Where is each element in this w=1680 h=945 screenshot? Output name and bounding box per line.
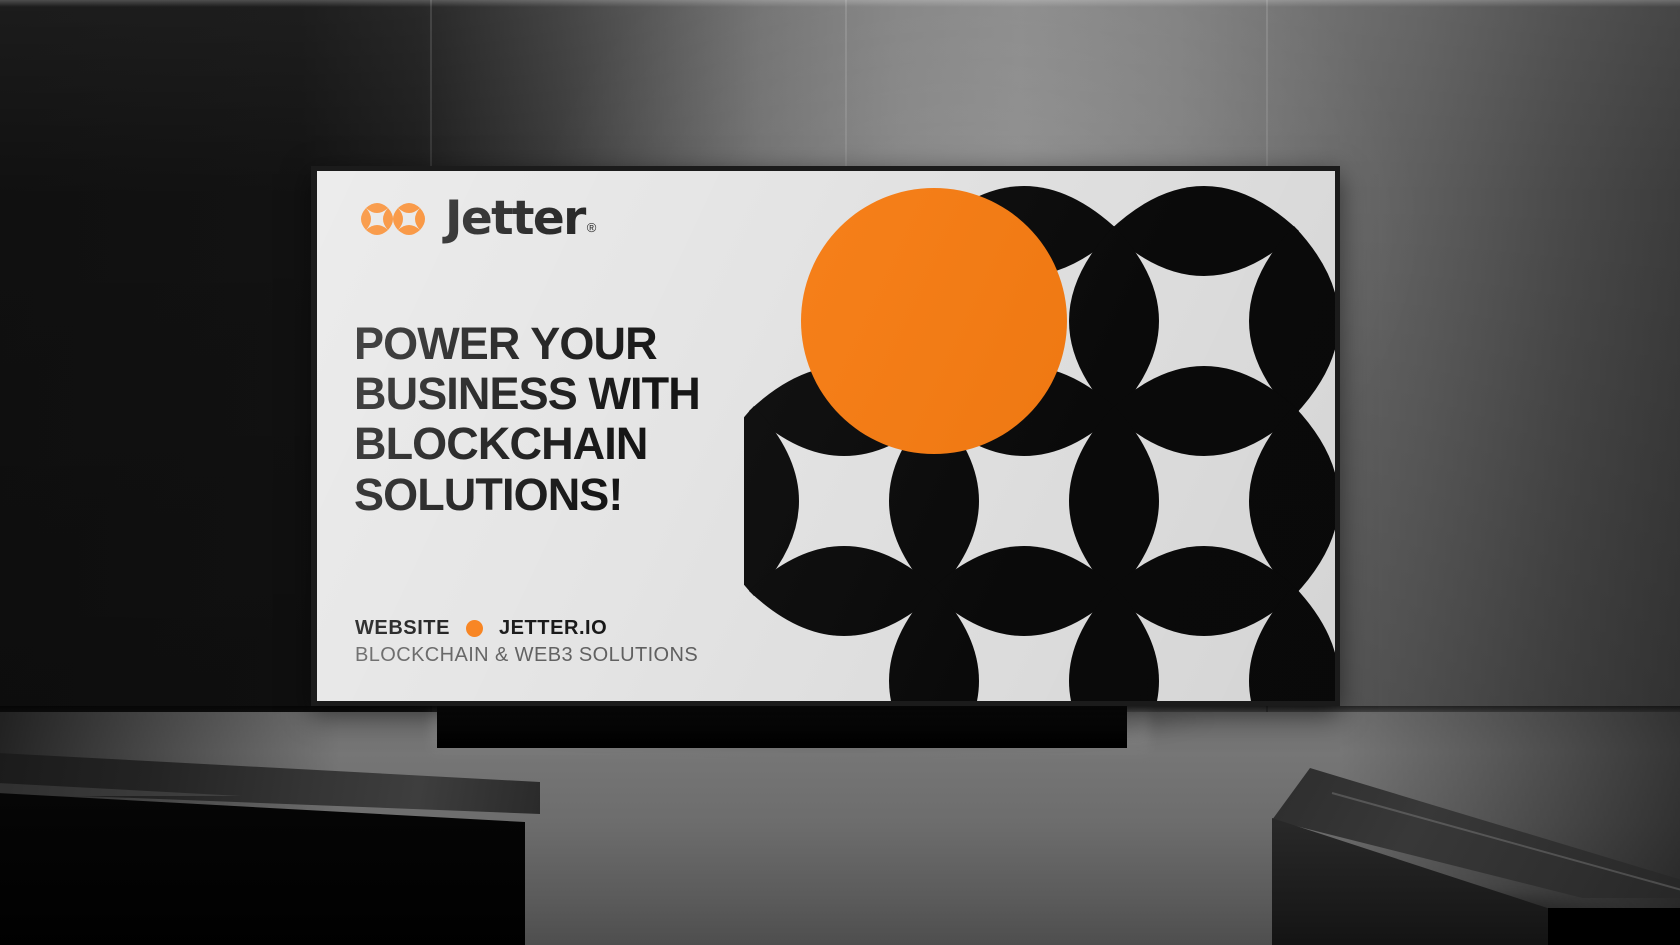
bench-left-front-face — [0, 790, 525, 945]
bench-left — [0, 752, 540, 945]
headline-line-1: POWER YOUR — [354, 319, 700, 369]
jetter-wordmark: Jetter ® — [445, 195, 596, 242]
billboard-frame: Jetter ® POWER YOUR BUSINESS WITH BLOCKC… — [311, 166, 1340, 706]
bench-right — [1272, 768, 1680, 945]
overlapping-circles-pattern — [744, 171, 1335, 701]
billboard-face: Jetter ® POWER YOUR BUSINESS WITH BLOCKC… — [317, 171, 1335, 701]
footer-website-row: WEBSITE JETTER.IO — [355, 617, 698, 640]
headline-line-2: BUSINESS WITH — [354, 369, 700, 419]
headline-line-3: BLOCKCHAIN — [354, 419, 700, 469]
footer-website-url[interactable]: JETTER.IO — [499, 617, 607, 640]
jetter-logo[interactable]: Jetter ® — [355, 195, 596, 242]
headline-line-4: SOLUTIONS! — [354, 470, 700, 520]
footer-tagline: BLOCKCHAIN & WEB3 SOLUTIONS — [355, 644, 698, 667]
orange-accent-circle — [801, 188, 1067, 454]
logo-text: Jetter — [445, 195, 585, 242]
bench-right-front-face — [1548, 908, 1680, 945]
pattern-svg — [744, 171, 1335, 701]
billboard-footer: WEBSITE JETTER.IO BLOCKCHAIN & WEB3 SOLU… — [355, 617, 698, 667]
footer-website-label: WEBSITE — [355, 617, 450, 640]
orange-dot-icon — [466, 620, 483, 637]
billboard-mockup-scene: Jetter ® POWER YOUR BUSINESS WITH BLOCKC… — [0, 0, 1680, 945]
jetter-logo-mark-icon — [355, 197, 431, 241]
wall-top-edge — [0, 0, 1680, 7]
headline: POWER YOUR BUSINESS WITH BLOCKCHAIN SOLU… — [354, 319, 700, 520]
billboard-base — [437, 700, 1127, 748]
registered-trademark-icon: ® — [587, 221, 597, 234]
